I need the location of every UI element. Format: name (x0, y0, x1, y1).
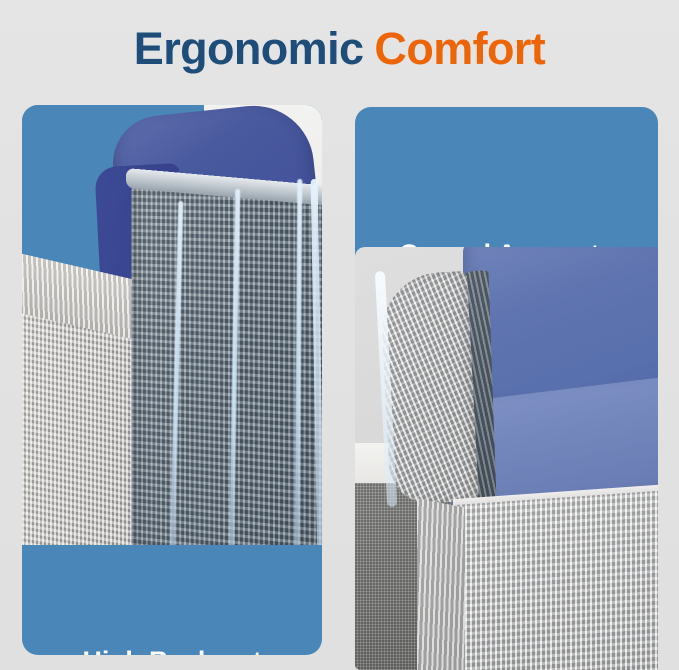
page-title-part-2: Comfort (374, 23, 545, 74)
feature-panel-high-backrest: High Backrest Provides full support for … (22, 105, 322, 655)
caption-heading: High Backrest (22, 647, 322, 655)
feature-panel-curved-armrests: Curved Armrests Adds style while ensurin… (355, 107, 658, 670)
caption-high-backrest: High Backrest Provides full support for … (22, 647, 322, 655)
product-photo-backrest (22, 105, 322, 545)
infographic-page: ErgonomicComfort High Backrest Provides … (0, 0, 679, 670)
page-title-part-1: Ergonomic (134, 23, 364, 74)
wicker-backrest-panel (132, 181, 322, 545)
wicker-base-panel (455, 489, 658, 670)
page-title: ErgonomicComfort (0, 26, 679, 71)
wicker-leg-side (417, 498, 465, 670)
product-photo-armrest (355, 247, 658, 670)
